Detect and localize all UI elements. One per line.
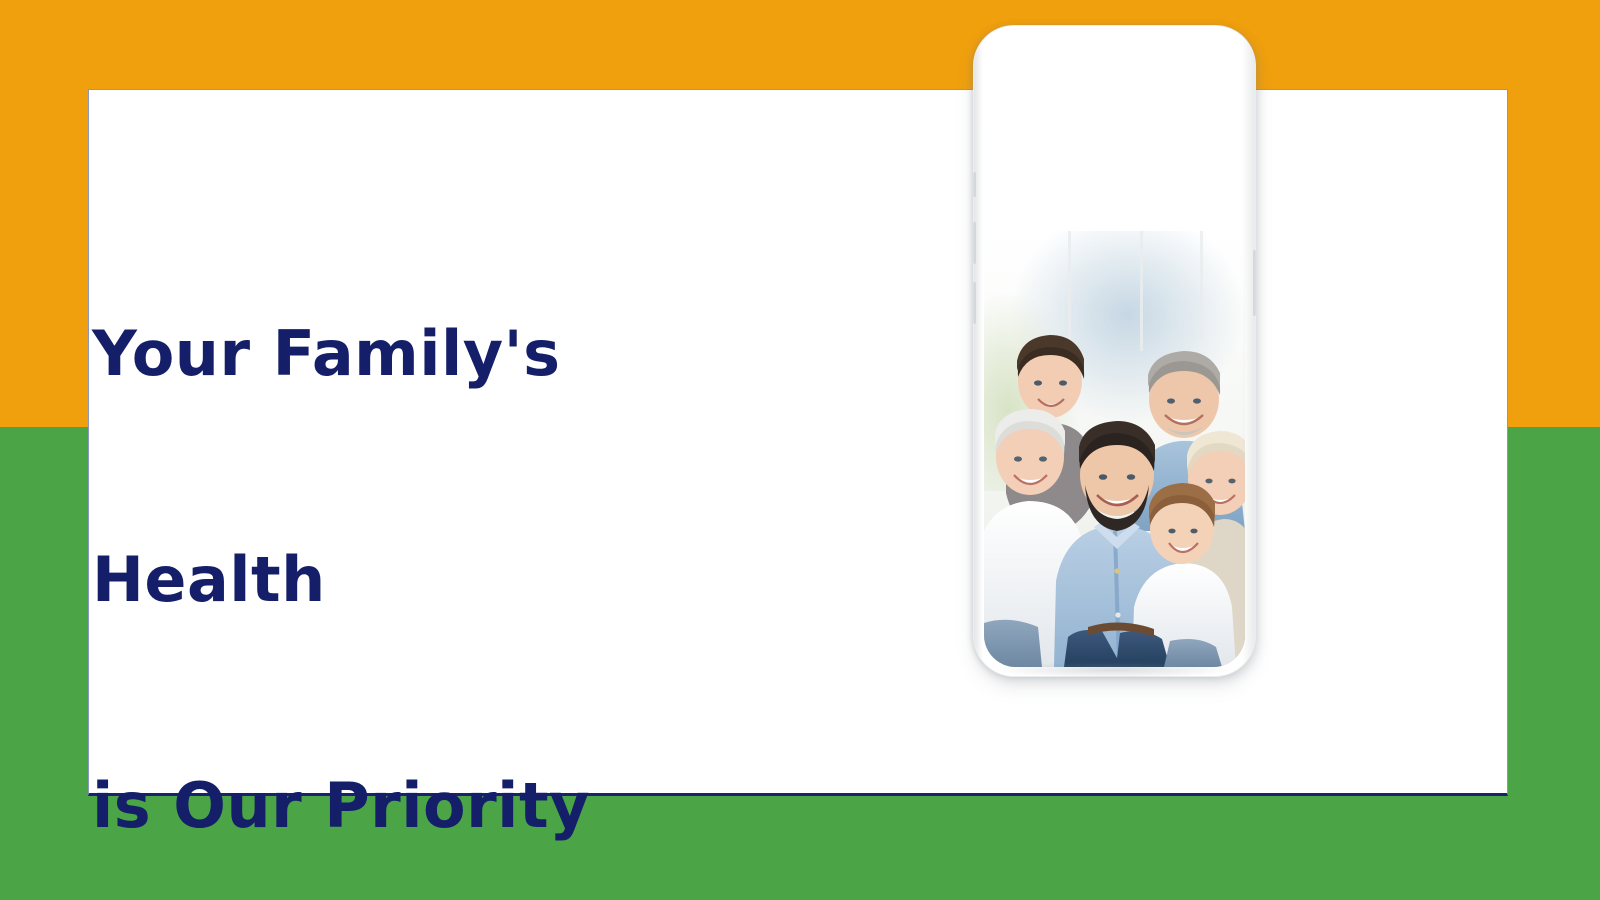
- family-photo: [984, 231, 1245, 667]
- page-title: Your Family's Health is Our Priority: [92, 184, 792, 900]
- headline-line-2: Health: [92, 523, 792, 636]
- silent-switch-button[interactable]: [973, 172, 976, 197]
- volume-down-button[interactable]: [973, 282, 976, 324]
- headline-line-1: Your Family's: [92, 297, 792, 410]
- phone-mockup: [962, 26, 1267, 681]
- volume-up-button[interactable]: [973, 222, 976, 264]
- power-button[interactable]: [1253, 250, 1256, 316]
- screen-blank-area: [984, 35, 1245, 231]
- headline-line-3: is Our Priority: [92, 749, 792, 862]
- slide-canvas: Your Family's Health is Our Priority: [0, 0, 1600, 900]
- phone-screen: [984, 35, 1245, 667]
